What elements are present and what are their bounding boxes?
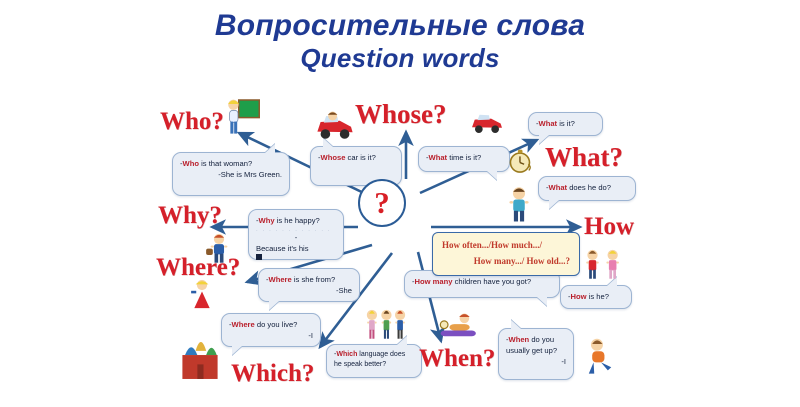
note-line-1: How often.../How much.../ <box>442 238 570 254</box>
bubble-line: usually get up? <box>506 345 566 356</box>
bubble-keyword: Where <box>269 275 292 284</box>
bubble-line: -Where is she from? <box>266 274 352 285</box>
diagram-canvas: Вопросительные слова Question words ? Wh… <box>0 0 800 407</box>
bubble-line: -She <box>266 285 352 296</box>
bubble-line: -Where do you live? <box>229 319 313 330</box>
bubble-line: -I <box>229 330 313 341</box>
working-man-icon <box>503 185 535 223</box>
teacher-with-chalkboard-icon <box>222 96 260 136</box>
bubble-keyword: How many <box>415 277 453 286</box>
question-word-why[interactable]: Why? <box>158 203 222 228</box>
kremlin-cathedral-icon <box>178 328 222 380</box>
bubble-line: -Who is that woman? <box>180 158 282 169</box>
bubble-keyword: When <box>509 335 530 344</box>
bubble-line: -What does he do? <box>546 182 628 193</box>
speech-bubble-what-does-he-do: -What does he do? <box>538 176 636 201</box>
question-word-when[interactable]: When? <box>419 346 495 371</box>
note-line-2: How many.../ How old...? <box>442 254 570 270</box>
speech-bubble-how-is-he: -How is he? <box>560 285 632 309</box>
bubble-line: -Why is he happy? <box>256 215 336 226</box>
bubble-line: -What time is it? <box>426 152 502 163</box>
bubble-line: -How is he? <box>568 291 624 302</box>
bubble-keyword: What <box>549 183 568 192</box>
speech-bubble-why-happy: -Why is he happy?. . . . . . . . . . . .… <box>248 209 344 260</box>
question-word-what[interactable]: What? <box>545 144 623 171</box>
bubble-keyword: Whose <box>321 153 346 162</box>
how-variants-note: How often.../How much.../ How many.../ H… <box>432 232 580 276</box>
bubble-line: he speak better? <box>334 360 414 370</box>
bubble-line: Because it's his <box>256 243 336 254</box>
running-boy-icon <box>582 336 616 376</box>
speech-bubble-what-is-it: -What is it? <box>528 112 603 136</box>
question-word-how[interactable]: How <box>584 214 634 239</box>
speech-bubble-where-live: -Where do you live?-I <box>221 313 321 347</box>
bubble-keyword: What <box>429 153 448 162</box>
man-in-red-car-icon <box>315 110 355 140</box>
bubble-line: -She is Mrs Green. <box>180 169 282 180</box>
stopwatch-icon <box>508 148 534 176</box>
man-on-bed-icon <box>438 310 482 342</box>
bubble-line: -How many children have you got? <box>412 276 552 287</box>
hub-question-mark: ? <box>374 187 390 218</box>
question-word-which[interactable]: Which? <box>231 361 314 386</box>
bubble-keyword: How <box>571 292 587 301</box>
bubble-line: -Whose car is it? <box>318 152 394 163</box>
two-children-icon <box>582 248 624 280</box>
speech-bubble-who-woman: -Who is that woman?-She is Mrs Green. <box>172 152 290 196</box>
bubble-keyword: Why <box>259 216 275 225</box>
bubble-keyword: Which <box>336 351 357 358</box>
question-word-who[interactable]: Who? <box>160 109 224 134</box>
bubble-line: - <box>256 232 336 243</box>
speech-bubble-what-time: -What time is it? <box>418 146 510 172</box>
center-hub: ? <box>358 179 406 227</box>
bubble-line: -I <box>506 356 566 367</box>
bubble-line: -Which language does <box>334 350 414 360</box>
bubble-keyword: Who <box>183 159 199 168</box>
group-of-people-icon <box>364 308 408 340</box>
bubble-line: -When do you <box>506 334 566 345</box>
happy-boy-with-bag-icon <box>205 232 233 264</box>
speech-bubble-where-from: -Where is she from?-She <box>258 268 360 302</box>
bubble-line: -What is it? <box>536 118 595 129</box>
question-word-whose[interactable]: Whose? <box>355 101 447 128</box>
bubble-keyword: What <box>539 119 558 128</box>
red-car-icon <box>470 110 504 134</box>
speech-bubble-when-get-up: -When do youusually get up?-I <box>498 328 574 380</box>
girl-with-flag-icon <box>186 278 218 310</box>
bubble-keyword: Where <box>232 320 255 329</box>
speech-bubble-which-language: -Which language doeshe speak better? <box>326 344 422 378</box>
